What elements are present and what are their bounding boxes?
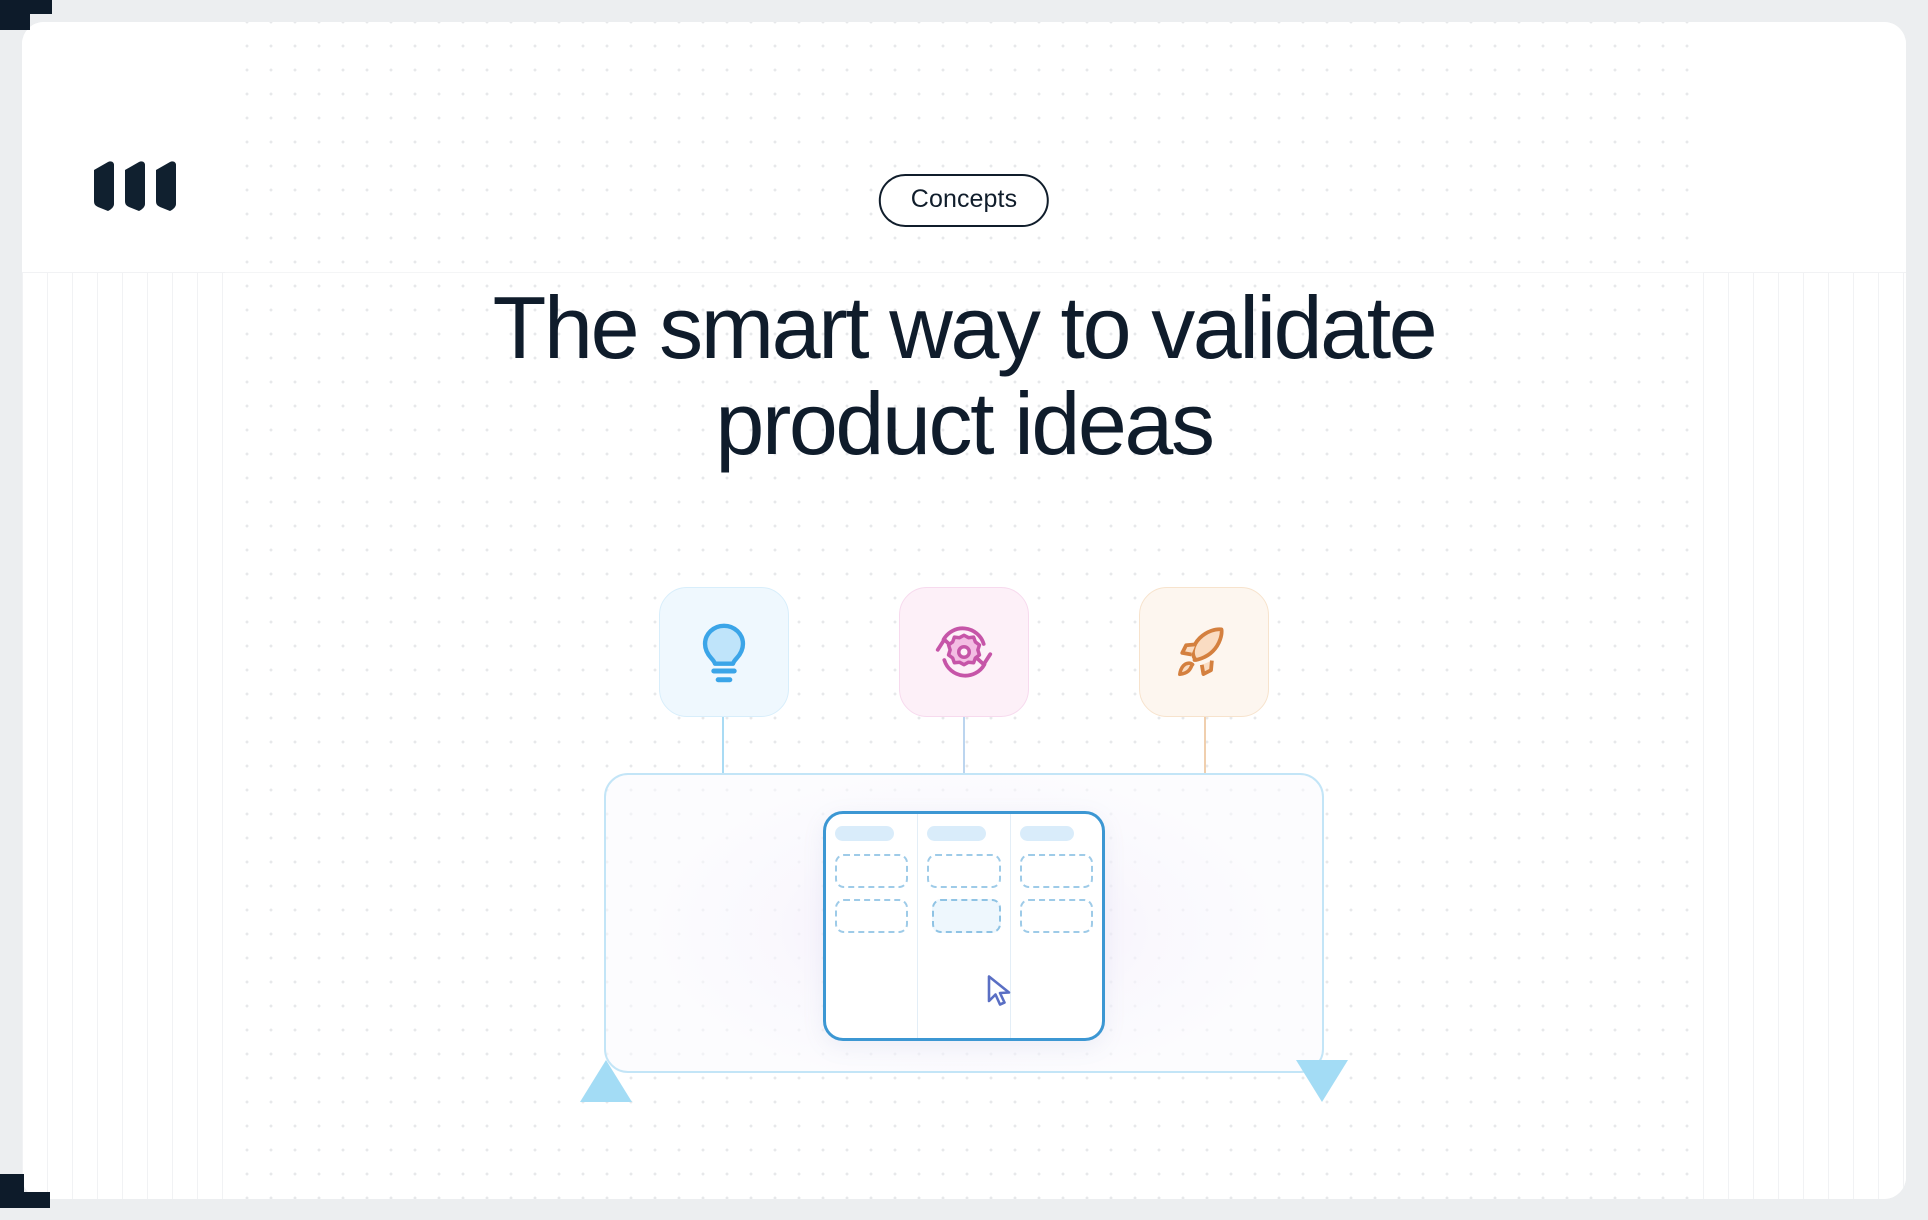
connector-line-idea [722, 717, 724, 774]
corner-marker-bottom-left [0, 1174, 24, 1208]
rocket-icon [1169, 617, 1239, 687]
idea-card[interactable] [659, 587, 789, 717]
content-canvas: Concepts The smart way to validate produ… [22, 22, 1906, 1199]
brand-logo[interactable] [84, 156, 194, 214]
kanban-card-active[interactable] [932, 899, 1000, 933]
connector-line-launch [1204, 717, 1206, 774]
launch-card[interactable] [1139, 587, 1269, 717]
kanban-card-placeholder[interactable] [1020, 854, 1093, 888]
kanban-card-placeholder[interactable] [927, 854, 1000, 888]
concept-illustration [604, 587, 1324, 1107]
iterate-card[interactable] [899, 587, 1029, 717]
right-rail-stripes [1703, 272, 1906, 1199]
arrow-down-marker [1296, 1060, 1348, 1102]
kanban-column-3[interactable] [1010, 814, 1102, 1038]
left-rail-stripes [22, 272, 225, 1199]
corner-marker-top-left [0, 0, 30, 30]
headline-line-1: The smart way to validate [493, 278, 1436, 377]
arrow-up-marker [580, 1060, 632, 1102]
horizontal-rule [225, 272, 1703, 273]
right-rail [1703, 22, 1906, 1199]
column-header-pill [927, 826, 986, 841]
headline-line-2: product ideas [715, 374, 1212, 473]
icon-card-row [604, 587, 1324, 717]
section-badge[interactable]: Concepts [879, 174, 1049, 227]
page-title: The smart way to validate product ideas [334, 280, 1594, 472]
column-header-pill [835, 826, 894, 841]
kanban-column-2[interactable] [917, 814, 1009, 1038]
lightbulb-icon [689, 617, 759, 687]
kanban-card-placeholder[interactable] [1020, 899, 1093, 933]
kanban-board[interactable] [823, 811, 1105, 1041]
connector-line-iterate [963, 717, 965, 774]
gear-refresh-icon [929, 617, 999, 687]
kanban-card-placeholder[interactable] [835, 854, 908, 888]
page-root: Concepts The smart way to validate produ… [0, 0, 1928, 1220]
column-header-pill [1020, 826, 1074, 841]
kanban-card-placeholder[interactable] [835, 899, 908, 933]
kanban-column-1[interactable] [826, 814, 917, 1038]
